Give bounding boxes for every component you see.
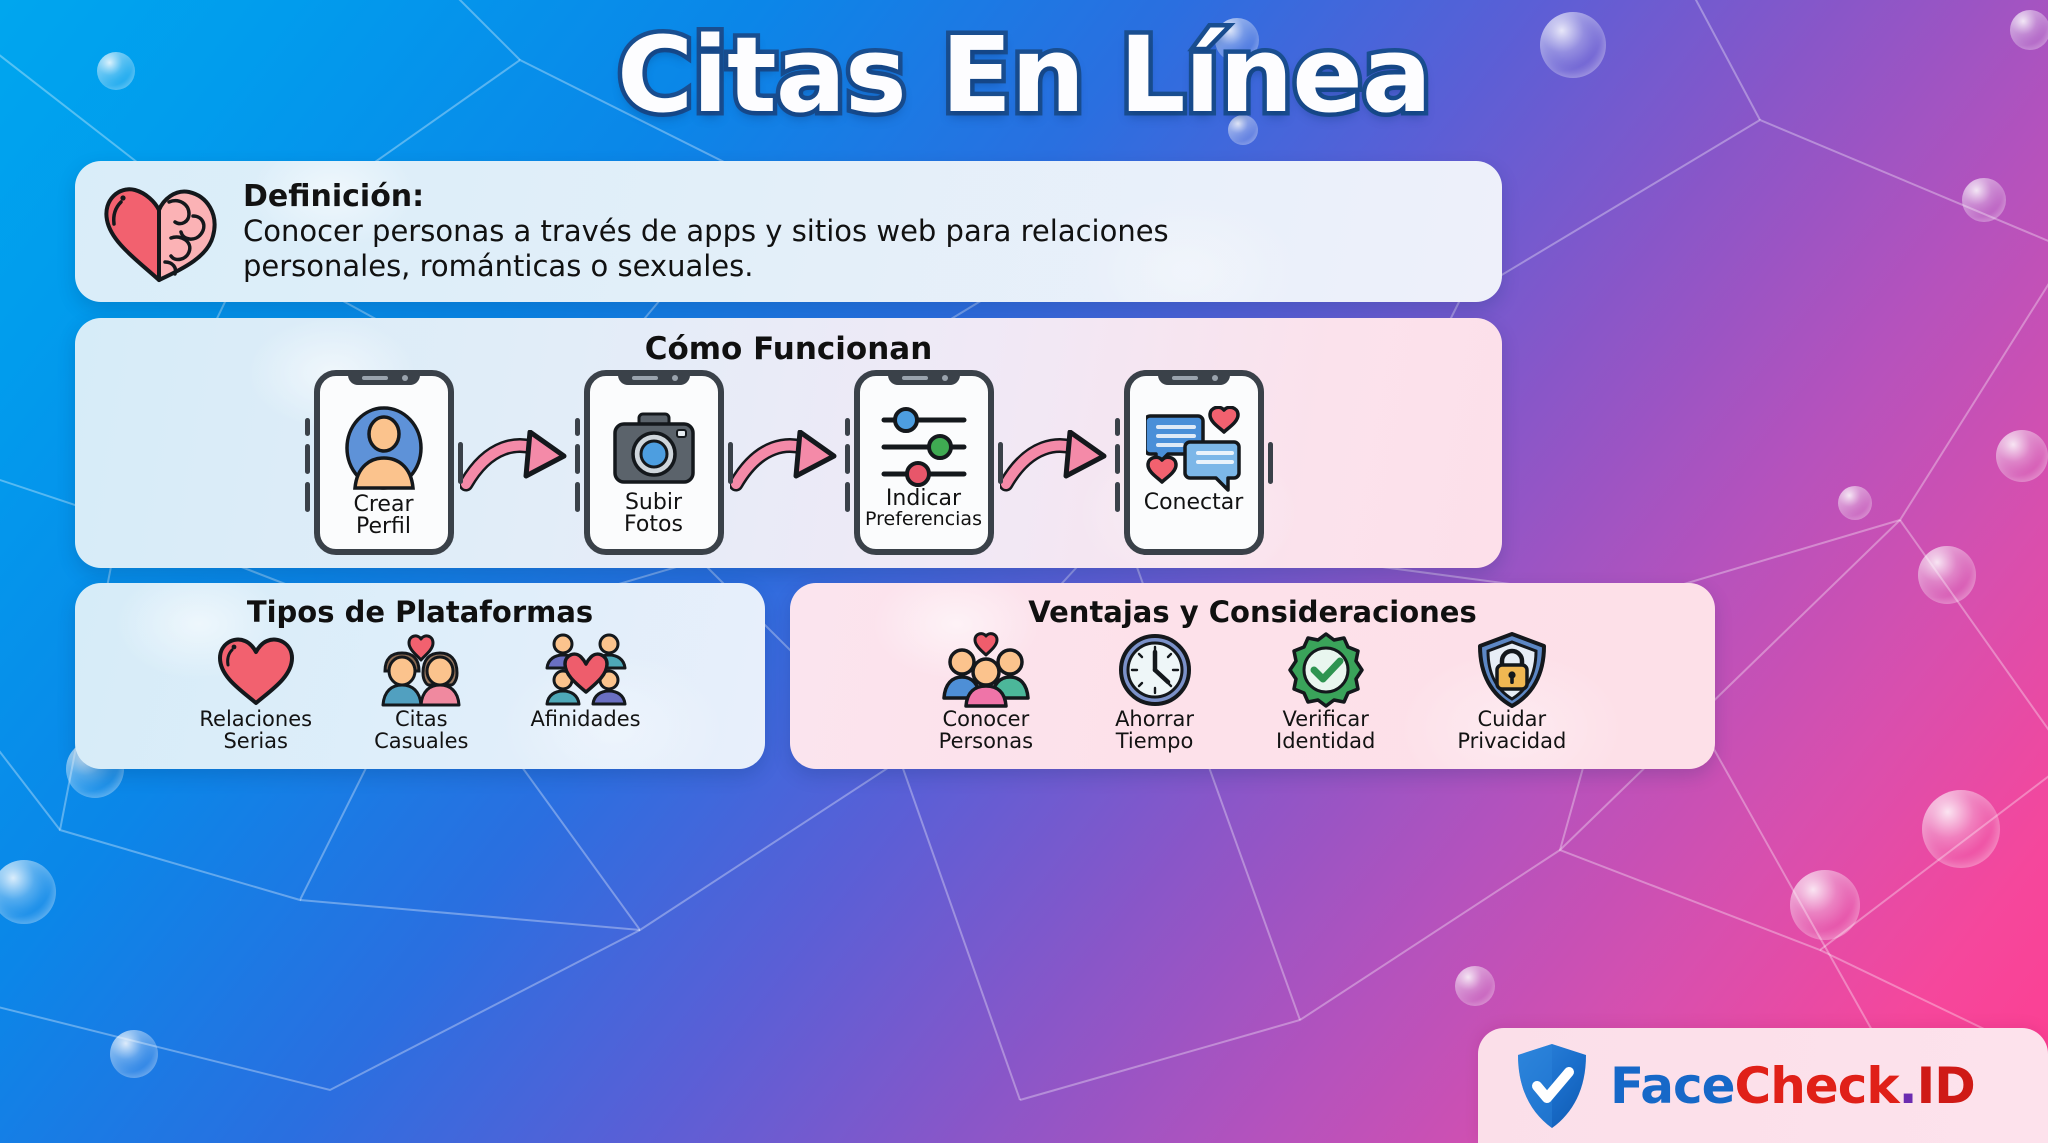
tile-ahorrar-tiempo: Ahorrar Tiempo (1115, 635, 1194, 753)
tile-citas-casuales: Citas Casuales (374, 635, 468, 753)
tile-afinidades: Afinidades (530, 635, 640, 753)
phone-frame: Conectar (1124, 370, 1264, 555)
tile-caption: Afinidades (530, 709, 640, 731)
how-it-works-steps: Crear Perfil (75, 370, 1502, 560)
tile-conocer-personas: Conocer Personas (939, 635, 1033, 753)
step-conectar: Conectar (1119, 370, 1269, 555)
phone-frame: Indicar Preferencias (854, 370, 994, 555)
arrow-3-icon (999, 370, 1119, 560)
platform-types-title: Tipos de Plataformas (75, 595, 765, 629)
tile-cuidar-privacidad: Cuidar Privacidad (1457, 635, 1566, 753)
platform-types-panel: Tipos de Plataformas Relaciones Serias (75, 583, 765, 769)
logo-part-face: Face (1610, 1057, 1735, 1115)
logo-part-dot: . (1899, 1057, 1917, 1115)
advantages-panel: Ventajas y Consideraciones Conocer (790, 583, 1715, 769)
facecheck-logo-panel[interactable]: FaceCheck.ID (1478, 1028, 2048, 1143)
logo-part-check: Check (1735, 1057, 1899, 1115)
tile-caption: Verificar Identidad (1276, 709, 1375, 753)
definition-line-2: personales, románticas o sexuales. (243, 249, 1169, 284)
step-indicar-preferencias: Indicar Preferencias (849, 370, 999, 555)
tile-relaciones-serias: Relaciones Serias (199, 635, 312, 753)
heart-icon (216, 633, 296, 707)
platform-types-tiles: Relaciones Serias (75, 635, 765, 753)
definition-panel: Definición: Conocer personas a través de… (75, 161, 1502, 302)
logo-part-id: ID (1917, 1057, 1975, 1115)
tile-caption: Ahorrar Tiempo (1115, 709, 1194, 753)
verified-badge-icon (1288, 632, 1364, 708)
advantages-title: Ventajas y Consideraciones (790, 595, 1715, 629)
step-crear-perfil: Crear Perfil (309, 370, 459, 555)
step-subir-fotos: Subir Fotos (579, 370, 729, 555)
shield-check-icon (1514, 1042, 1590, 1130)
arrow-2-icon (729, 370, 849, 560)
how-it-works-panel: Cómo Funcionan Crear (75, 318, 1502, 568)
step-label: Subir Fotos (624, 492, 683, 537)
page-title-wrap: Citas En Línea (0, 14, 2048, 136)
tile-caption: Citas Casuales (374, 709, 468, 753)
phone-frame: Subir Fotos (584, 370, 724, 555)
definition-heading: Definición: (243, 180, 1169, 214)
tile-verificar-identidad: Verificar Identidad (1276, 635, 1375, 753)
camera-icon (609, 406, 699, 492)
infographic-canvas: Citas En Línea Definición: Conocer pe (0, 0, 2048, 1143)
definition-line-1: Conocer personas a través de apps y siti… (243, 214, 1169, 249)
clock-icon (1117, 632, 1193, 708)
facecheck-logo-text: FaceCheck.ID (1610, 1057, 1975, 1115)
user-profile-icon (341, 406, 427, 494)
page-title: Citas En Línea (617, 14, 1431, 136)
tile-caption: Relaciones Serias (199, 709, 312, 753)
how-it-works-title: Cómo Funcionan (75, 331, 1502, 367)
people-heart-group-icon (541, 632, 631, 708)
shield-lock-icon (1475, 631, 1549, 709)
step-label: Crear Perfil (354, 494, 414, 539)
arrow-1-icon (459, 370, 579, 560)
heart-brain-icon (97, 176, 225, 288)
advantages-tiles: Conocer Personas (790, 635, 1715, 753)
phone-frame: Crear Perfil (314, 370, 454, 555)
chat-hearts-icon (1146, 406, 1242, 492)
step-label: Indicar Preferencias (865, 488, 982, 530)
tile-caption: Conocer Personas (939, 709, 1033, 753)
couple-heart-icon (379, 631, 463, 709)
step-label: Conectar (1144, 492, 1244, 514)
sliders-icon (878, 406, 970, 488)
tile-caption: Cuidar Privacidad (1457, 709, 1566, 753)
group-people-heart-icon (942, 632, 1030, 708)
